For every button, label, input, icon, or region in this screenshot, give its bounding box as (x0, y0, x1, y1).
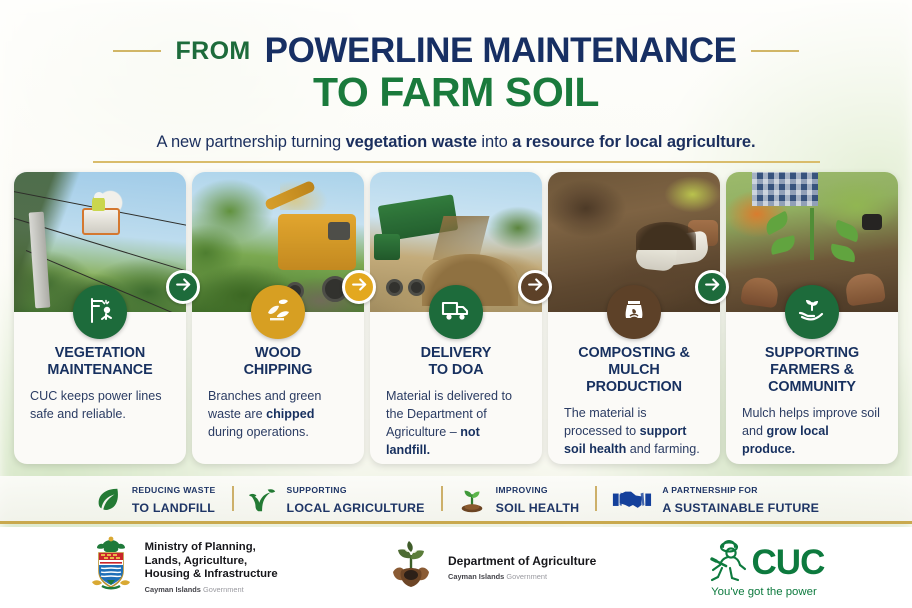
title-eyebrow: FROM (175, 37, 250, 66)
ministry-name-line1: Ministry of Planning, (145, 541, 278, 555)
benefit-top-label: A PARTNERSHIP FOR (662, 485, 758, 495)
ministry-name-line2: Lands, Agriculture, (145, 555, 278, 569)
step-card-vegetation-maintenance[interactable]: VEGETATION MAINTENANCE CUC keeps power l… (14, 172, 186, 464)
page-title-line1: POWERLINE MAINTENANCE (265, 31, 737, 71)
benefit-bottom-label: TO LANDFILL (132, 501, 215, 515)
step-card-supporting-farmers-community[interactable]: SUPPORTING FARMERS & COMMUNITY Mulch hel… (726, 172, 898, 464)
step-badge-delivery-to-doa (429, 285, 483, 339)
title-row: FROM POWERLINE MAINTENANCE (0, 31, 912, 71)
cuc-logo: CUC You've got the power (704, 538, 825, 598)
subtitle-emphasis-2: a resource for local agriculture. (512, 133, 755, 151)
benefits-strip: REDUCING WASTE TO LANDFILL SUPPORTING LO… (0, 476, 912, 524)
footer-logos: Ministry of Planning, Lands, Agriculture… (0, 527, 912, 608)
arrow-step-4-to-5 (695, 270, 729, 304)
benefit-reducing-waste: REDUCING WASTE TO LANDFILL (77, 480, 232, 517)
step-title-wood-chipping: WOOD CHIPPING (206, 345, 350, 379)
subtitle-emphasis-1: vegetation waste (346, 133, 477, 151)
benefit-bottom-label: A SUSTAINABLE FUTURE (662, 501, 819, 515)
arrow-step-2-to-3 (342, 270, 376, 304)
subtitle-part-1: A new partnership turning (156, 133, 345, 151)
step-badge-supporting-farmers (785, 285, 839, 339)
subtitle-part-2: into (477, 133, 512, 151)
benefit-bottom-label: LOCAL AGRICULTURE (287, 501, 425, 515)
subtitle-divider (93, 161, 820, 163)
doa-seedling-in-hands-icon (385, 539, 437, 596)
powerline-worker-icon (84, 294, 116, 331)
step-badge-vegetation-maintenance (73, 285, 127, 339)
handshake-icon (611, 484, 653, 514)
step-desc-composting: The material is processed to support soi… (562, 405, 706, 459)
arrow-right-icon (527, 276, 544, 298)
ministry-name-line3: Housing & Infrastructure (145, 568, 278, 582)
step-badge-composting (607, 285, 661, 339)
subtitle: A new partnership turning vegetation was… (0, 133, 912, 152)
wood-chips-icon (262, 294, 294, 331)
header: FROM POWERLINE MAINTENANCE TO FARM SOIL … (0, 0, 912, 163)
arrow-step-1-to-2 (166, 270, 200, 304)
title-rule-right (751, 50, 799, 52)
benefit-bottom-label: SOIL HEALTH (496, 501, 580, 515)
step-card-composting-mulch-production[interactable]: COMPOSTING & MULCH PRODUCTION The materi… (548, 172, 720, 464)
ministry-government-label: Cayman Islands Government (145, 585, 278, 594)
ministry-logo: Ministry of Planning, Lands, Agriculture… (88, 536, 278, 599)
cuc-lineman-mascot-icon (704, 538, 750, 589)
delivery-truck-icon (440, 294, 472, 331)
step-desc-supporting-farmers: Mulch helps improve soil and grow local … (740, 405, 884, 459)
compost-bin-icon (618, 294, 650, 331)
step-card-delivery-to-doa[interactable]: DELIVERY TO DOA Material is delivered to… (370, 172, 542, 464)
benefit-top-label: IMPROVING (496, 485, 548, 495)
doa-government-label: Cayman Islands Government (448, 572, 596, 581)
title-rule-left (113, 50, 161, 52)
benefit-supporting-local-agriculture: SUPPORTING LOCAL AGRICULTURE (232, 480, 441, 517)
doa-name: Department of Agriculture (448, 554, 596, 569)
arrow-step-3-to-4 (518, 270, 552, 304)
plant-sprig-icon (248, 484, 278, 514)
step-desc-wood-chipping: Branches and green waste are chipped dur… (206, 388, 350, 442)
department-of-agriculture-logo: Department of Agriculture Cayman Islands… (385, 539, 596, 596)
leaf-icon (93, 484, 123, 514)
step-card-wood-chipping[interactable]: WOOD CHIPPING Branches and green waste a… (192, 172, 364, 464)
cayman-islands-coat-of-arms-icon (88, 536, 134, 599)
cuc-tagline: You've got the power (711, 586, 817, 598)
benefit-top-label: REDUCING WASTE (132, 485, 216, 495)
benefit-improving-soil-health: IMPROVING SOIL HEALTH (441, 480, 596, 517)
step-title-delivery-to-doa: DELIVERY TO DOA (384, 345, 528, 379)
step-desc-delivery-to-doa: Material is delivered to the Department … (384, 388, 528, 460)
seedling-in-soil-icon (457, 484, 487, 514)
cuc-wordmark: CUC (752, 543, 825, 583)
step-title-vegetation-maintenance: VEGETATION MAINTENANCE (28, 345, 172, 379)
arrow-right-icon (351, 276, 368, 298)
arrow-right-icon (175, 276, 192, 298)
benefit-sustainable-future: A PARTNERSHIP FOR A SUSTAINABLE FUTURE (595, 480, 835, 517)
page-title-line2: TO FARM SOIL (0, 69, 912, 116)
step-desc-vegetation-maintenance: CUC keeps power lines safe and reliable. (28, 388, 172, 424)
infographic-poster: FROM POWERLINE MAINTENANCE TO FARM SOIL … (0, 0, 912, 608)
benefit-top-label: SUPPORTING (287, 485, 347, 495)
step-title-composting: COMPOSTING & MULCH PRODUCTION (562, 345, 706, 396)
step-badge-wood-chipping (251, 285, 305, 339)
arrow-right-icon (704, 276, 721, 298)
step-title-supporting-farmers: SUPPORTING FARMERS & COMMUNITY (740, 345, 884, 396)
hand-holding-plant-icon (796, 294, 828, 331)
process-steps-row: VEGETATION MAINTENANCE CUC keeps power l… (14, 172, 898, 464)
